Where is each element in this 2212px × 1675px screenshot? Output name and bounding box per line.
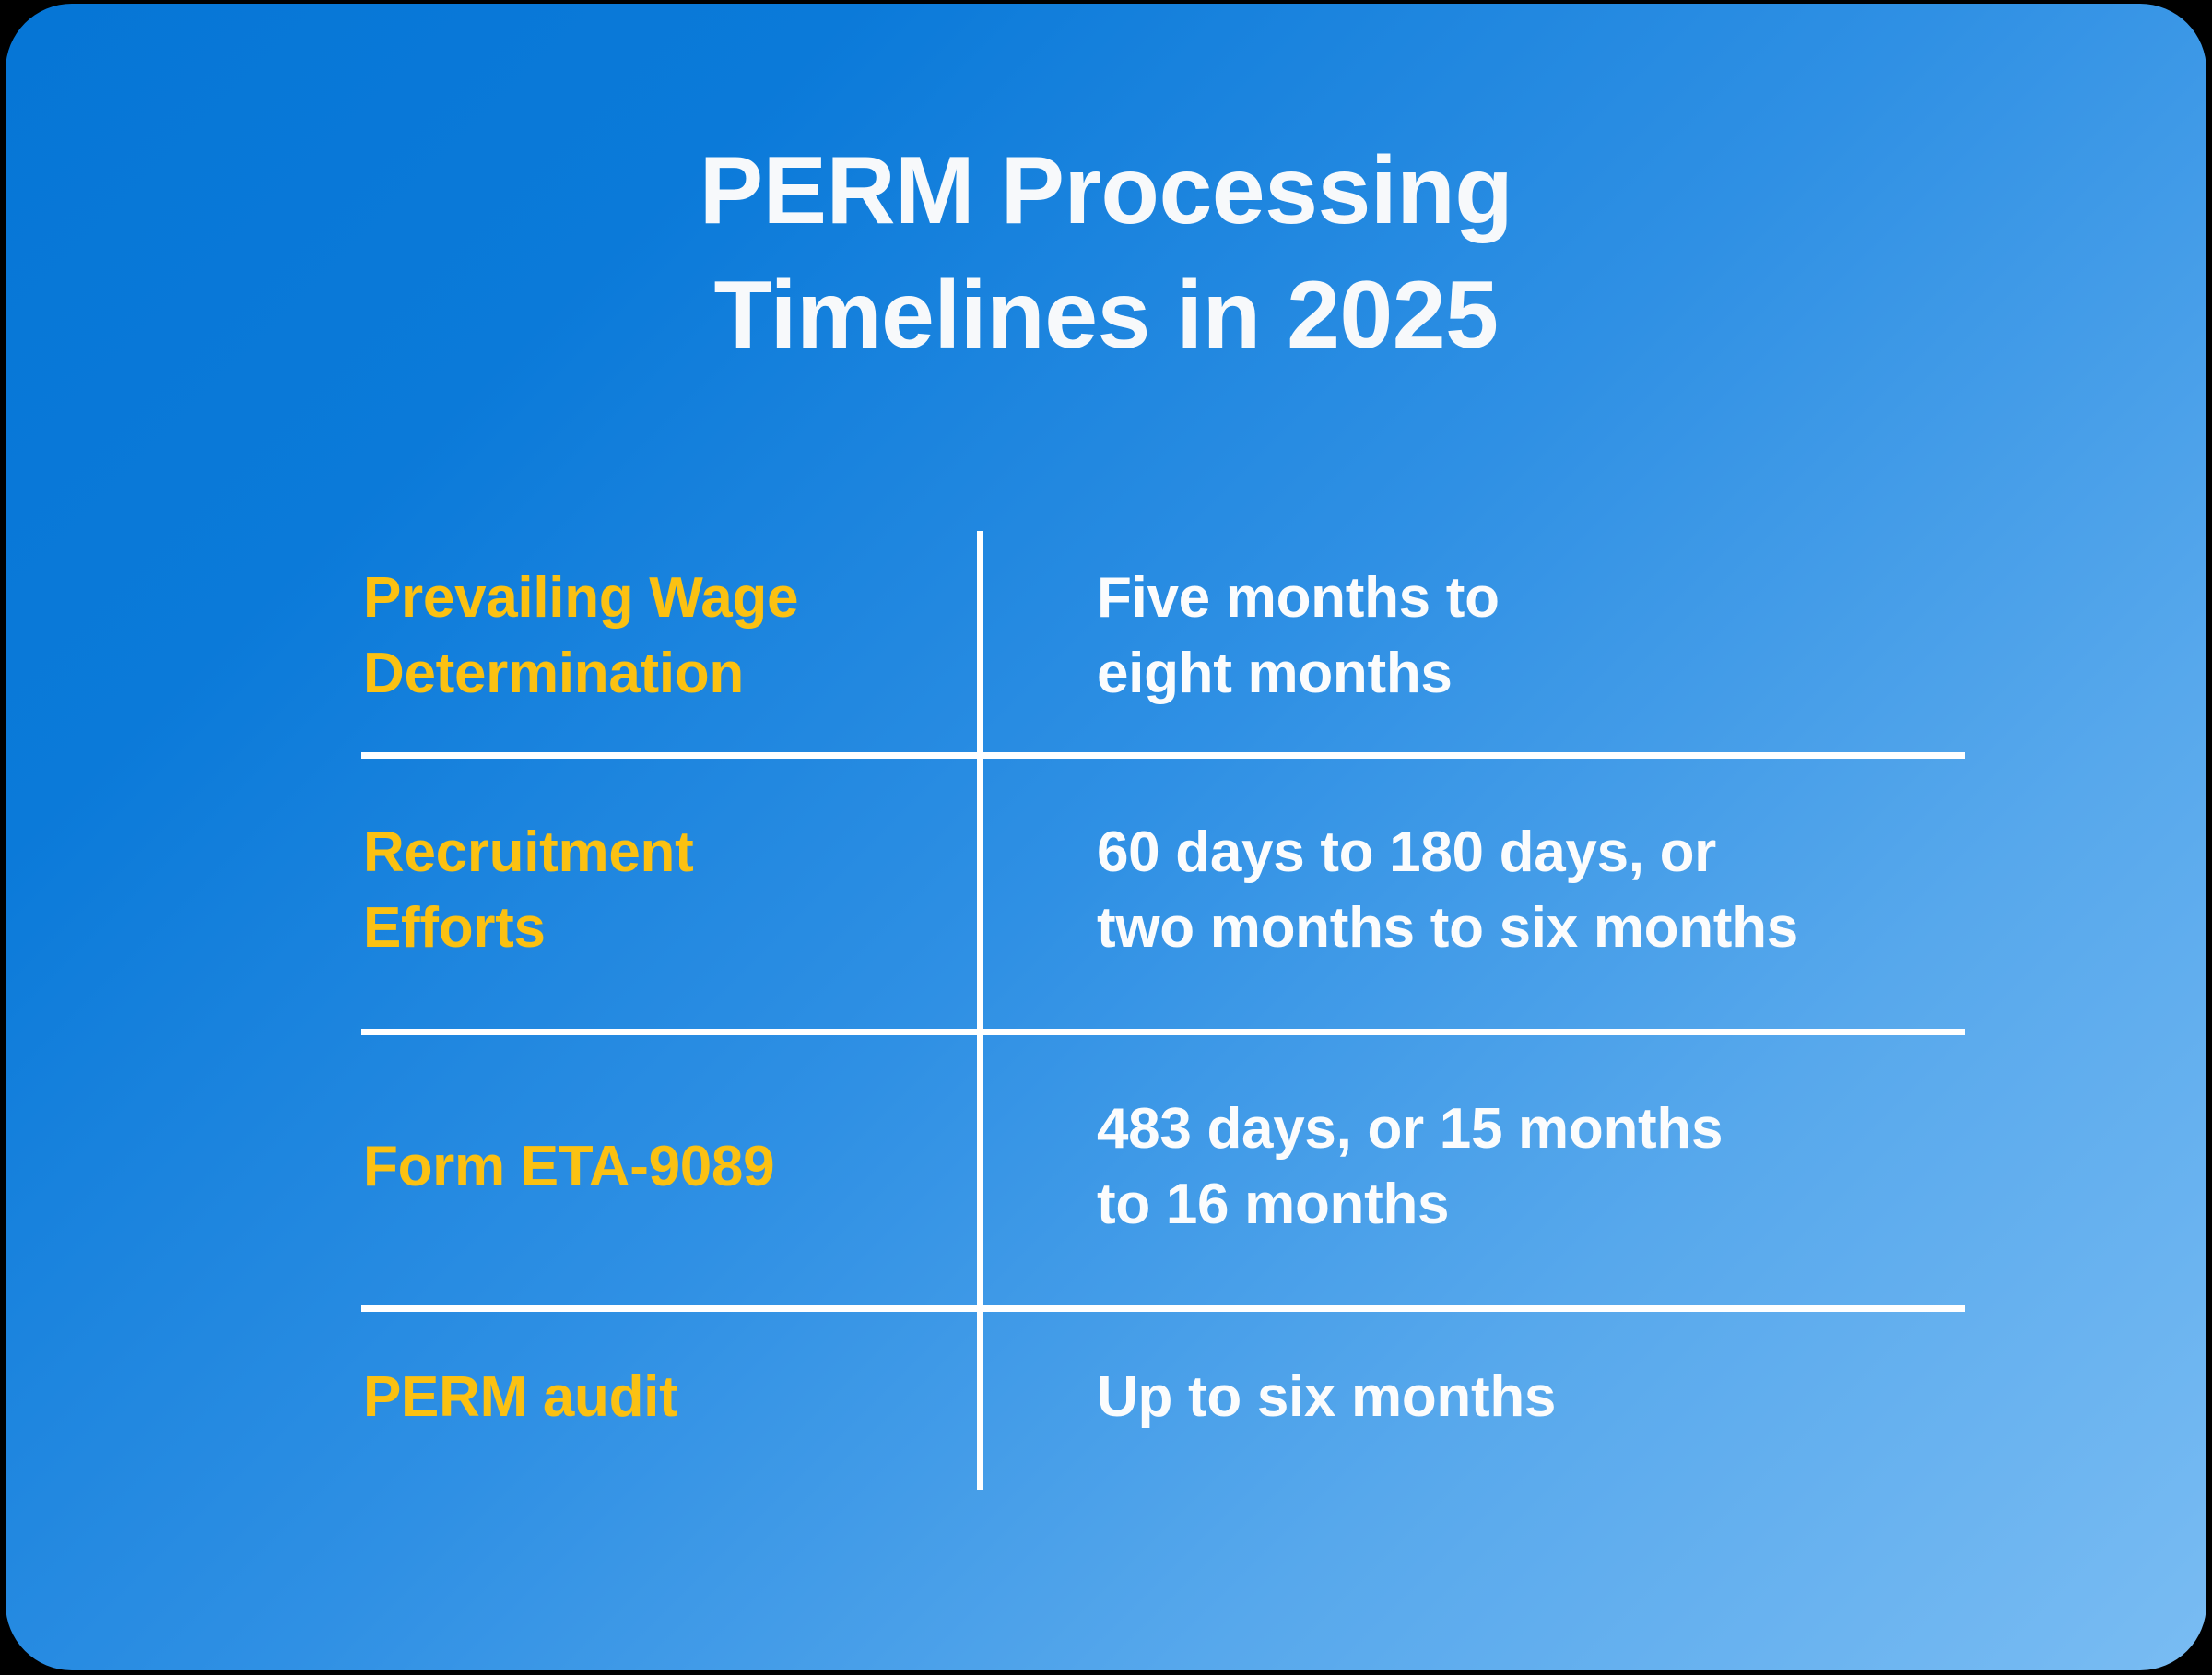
row-value-form-eta-9089: 483 days, or 15 months to 16 months xyxy=(977,1091,1969,1243)
value-line-2: to 16 months xyxy=(1097,1167,1969,1243)
value-line-2: eight months xyxy=(1097,636,1969,712)
row-label-recruitment-efforts: Recruitment Efforts xyxy=(358,815,977,966)
row-separator-3 xyxy=(361,1305,1965,1312)
label-line-1: Form ETA-9089 xyxy=(363,1129,977,1205)
table-row: PERM audit Up to six months xyxy=(358,1305,1969,1490)
timelines-table: Prevailing Wage Determination Five month… xyxy=(358,520,1969,1490)
label-line-1: Recruitment xyxy=(363,815,977,891)
value-line-1: Up to six months xyxy=(1097,1360,1969,1435)
label-line-1: Prevailing Wage xyxy=(363,560,977,636)
row-value-perm-audit: Up to six months xyxy=(977,1360,1969,1435)
label-line-2: Determination xyxy=(363,636,977,712)
row-label-prevailing-wage-determination: Prevailing Wage Determination xyxy=(358,560,977,712)
value-line-1: 483 days, or 15 months xyxy=(1097,1091,1969,1167)
title-line-2: Timelines in 2025 xyxy=(6,254,2206,378)
row-value-recruitment-efforts: 60 days to 180 days, or two months to si… xyxy=(977,815,1969,966)
table-row: Form ETA-9089 483 days, or 15 months to … xyxy=(358,1029,1969,1305)
row-label-form-eta-9089: Form ETA-9089 xyxy=(358,1129,977,1205)
page-title: PERM Processing Timelines in 2025 xyxy=(6,129,2206,378)
value-line-2: two months to six months xyxy=(1097,891,1969,966)
value-line-1: 60 days to 180 days, or xyxy=(1097,815,1969,891)
row-separator-2 xyxy=(361,1029,1965,1035)
table-row: Prevailing Wage Determination Five month… xyxy=(358,520,1969,752)
infographic-card: PERM Processing Timelines in 2025 Prevai… xyxy=(6,4,2206,1670)
label-line-2: Efforts xyxy=(363,891,977,966)
column-divider xyxy=(977,531,983,1490)
row-value-prevailing-wage-determination: Five months to eight months xyxy=(977,560,1969,712)
row-label-perm-audit: PERM audit xyxy=(358,1360,977,1435)
label-line-1: PERM audit xyxy=(363,1360,977,1435)
infographic-frame: PERM Processing Timelines in 2025 Prevai… xyxy=(0,0,2212,1675)
title-line-1: PERM Processing xyxy=(6,129,2206,254)
value-line-1: Five months to xyxy=(1097,560,1969,636)
table-row: Recruitment Efforts 60 days to 180 days,… xyxy=(358,752,1969,1029)
row-separator-1 xyxy=(361,752,1965,759)
